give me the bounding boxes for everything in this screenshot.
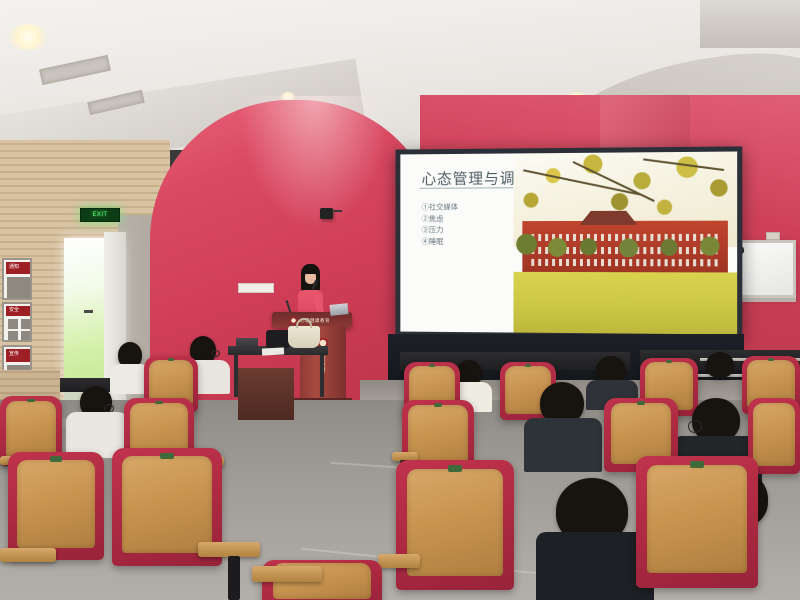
notice-board-heading: 宣传: [9, 352, 19, 358]
seat-cushion: [647, 465, 747, 573]
seat-cushion: [407, 469, 504, 576]
front-table-leg: [320, 355, 324, 397]
seat-badge: [434, 403, 443, 407]
handbag-handle[interactable]: [296, 318, 312, 328]
seat[interactable]: [396, 460, 514, 590]
slide-bullet-item: ②焦虑: [422, 213, 458, 225]
notice-board-photo: [7, 277, 31, 299]
notice-board-header: 宣传: [6, 349, 32, 362]
seat-armrest[interactable]: [0, 548, 56, 562]
glasses-icon: [212, 350, 220, 357]
seat-badge: [637, 401, 646, 405]
notice-board-heading: 通知: [9, 265, 19, 271]
seat-badge: [168, 358, 174, 361]
seat-badge: [690, 461, 705, 468]
exit-sign-icon: EXIT: [80, 208, 120, 222]
lecture-hall-photo: EXIT 通知 安全 宣传 心态管理与调整 ①社交媒体: [0, 0, 800, 600]
slide-surface: 心态管理与调整 ①社交媒体 ②焦虑 ③压力 ④睡眠: [400, 152, 737, 335]
ceiling-duct: [700, 0, 800, 48]
backpack[interactable]: [266, 330, 290, 348]
seat-cushion: [611, 403, 672, 464]
slide-bullet-item: ④睡眠: [422, 236, 458, 248]
notice-board-photo: [8, 331, 18, 340]
seat-badge: [27, 399, 34, 403]
laptop[interactable]: [329, 303, 348, 316]
seat[interactable]: [8, 452, 104, 560]
notice-board-photo: [21, 319, 31, 329]
door-handle[interactable]: [84, 310, 93, 313]
glasses-icon: [688, 420, 702, 433]
laptop[interactable]: [236, 338, 258, 347]
seat-leg: [228, 556, 240, 600]
aisle-wall-panel: [238, 368, 294, 420]
speaker-mount: [332, 210, 342, 212]
slide-photo-tree-row: [513, 225, 737, 258]
slide-bullet-item: ①社交媒体: [422, 201, 458, 213]
seat-cushion: [753, 403, 796, 465]
wall-light-glare: [240, 96, 390, 226]
seat-cushion: [122, 456, 212, 553]
seat-badge: [448, 465, 462, 472]
seat-badge: [160, 453, 173, 459]
notice-board-photo: [21, 331, 31, 340]
wall-plaque: [238, 283, 274, 293]
audience-shirt: [524, 418, 602, 472]
notice-board-header: 通知: [6, 262, 32, 274]
notice-board[interactable]: 通知: [2, 258, 32, 300]
seat-badge: [155, 401, 163, 405]
seat-badge: [50, 456, 62, 461]
ceiling-downlight: [8, 24, 48, 50]
notice-board-header: 安全: [6, 306, 32, 316]
projection-screen: 心态管理与调整 ①社交媒体 ②焦虑 ③压力 ④睡眠: [396, 146, 743, 339]
presenter-hair-front: [302, 264, 319, 274]
notice-board-heading: 安全: [9, 308, 19, 314]
slide-bullet-item: ③压力: [422, 224, 458, 236]
seat-armrest[interactable]: [378, 554, 420, 568]
seat-armrest[interactable]: [252, 566, 322, 582]
slide-bullet-list: ①社交媒体 ②焦虑 ③压力 ④睡眠: [422, 201, 458, 247]
handbag[interactable]: [288, 326, 320, 348]
slide-photo-lawn: [513, 272, 737, 335]
seat-cushion: [6, 401, 57, 458]
audience-head: [706, 352, 734, 378]
notice-board[interactable]: 安全: [2, 302, 32, 342]
seat-cushion: [17, 460, 96, 549]
wall-plate: [766, 232, 780, 240]
slide-photo: [513, 152, 737, 335]
paper-sheet[interactable]: [262, 347, 284, 355]
seat[interactable]: [636, 456, 758, 588]
seat-armrest[interactable]: [198, 542, 260, 557]
exit-sign-label: EXIT: [93, 212, 108, 218]
slide-photo-building-windows: [531, 259, 719, 267]
notice-board-photo: [8, 319, 18, 329]
